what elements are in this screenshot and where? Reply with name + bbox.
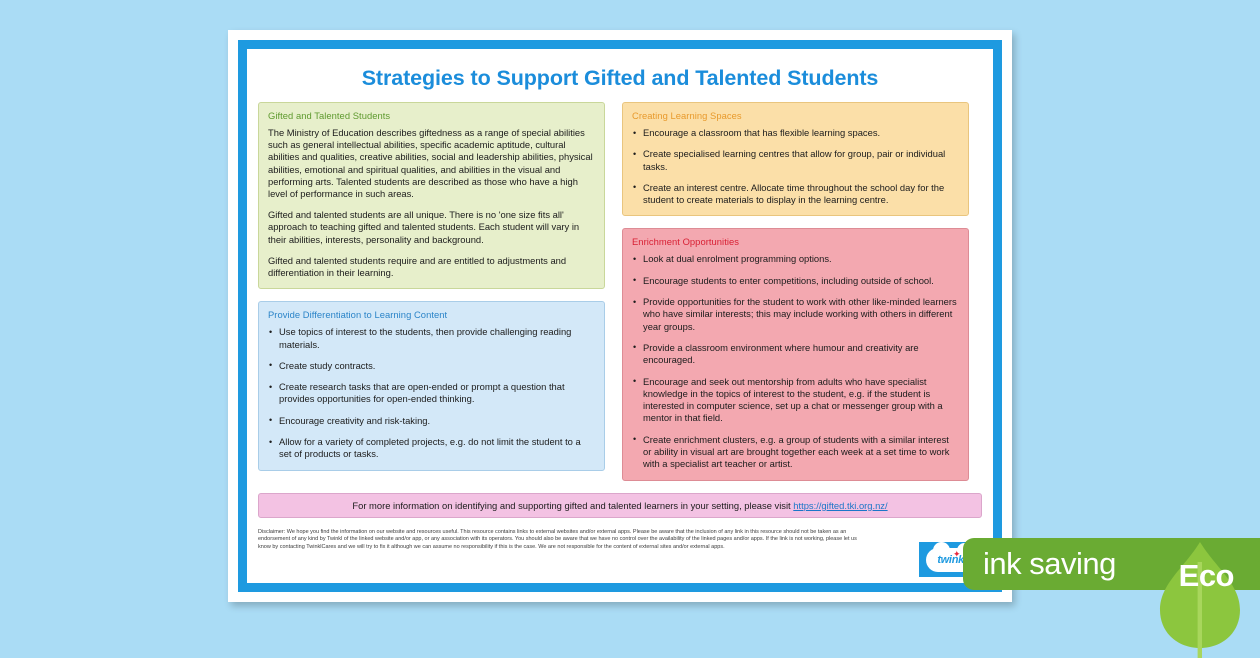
disclaimer-text: Disclaimer: We hope you find the informa… [258, 529, 858, 552]
card-title-enrichment-opportunities: Enrichment Opportunities [632, 236, 959, 247]
eco-label: Eco [1179, 558, 1234, 594]
list-item: Allow for a variety of completed project… [268, 436, 595, 461]
card-provide-differentiation: Provide Differentiation to Learning Cont… [258, 301, 605, 470]
ink-saving-label: ink saving [983, 546, 1116, 582]
poster-blue-frame: Strategies to Support Gifted and Talente… [238, 40, 1002, 592]
card-title-gifted-and-talented-students: Gifted and Talented Students [268, 110, 595, 121]
list-item: Encourage creativity and risk-taking. [268, 415, 595, 427]
page-title: Strategies to Support Gifted and Talente… [258, 66, 982, 91]
card-enrichment-opportunities: Enrichment Opportunities Look at dual en… [622, 228, 969, 480]
list-item: Use topics of interest to the students, … [268, 326, 595, 351]
list-item: Encourage and seek out mentorship from a… [632, 376, 959, 425]
list-item: Provide a classroom environment where hu… [632, 342, 959, 367]
content-columns: Gifted and Talented Students The Ministr… [258, 102, 982, 481]
list-item: Encourage a classroom that has flexible … [632, 127, 959, 139]
list-item: Look at dual enrolment programming optio… [632, 253, 959, 265]
card-creating-learning-spaces: Creating Learning Spaces Encourage a cla… [622, 102, 969, 216]
paragraph: Gifted and talented students require and… [268, 255, 595, 279]
list-item: Create research tasks that are open-ende… [268, 381, 595, 406]
card-gifted-and-talented-students: Gifted and Talented Students The Ministr… [258, 102, 605, 289]
left-column: Gifted and Talented Students The Ministr… [258, 102, 605, 471]
bullet-list-enrichment-opportunities: Look at dual enrolment programming optio… [632, 253, 959, 470]
bullet-list-creating-learning-spaces: Encourage a classroom that has flexible … [632, 127, 959, 206]
card-title-provide-differentiation: Provide Differentiation to Learning Cont… [268, 309, 595, 320]
card-title-creating-learning-spaces: Creating Learning Spaces [632, 110, 959, 121]
list-item: Encourage students to enter competitions… [632, 275, 959, 287]
star-icon: ✦ [953, 549, 961, 560]
paragraph: The Ministry of Education describes gift… [268, 127, 595, 200]
right-column: Creating Learning Spaces Encourage a cla… [622, 102, 969, 481]
list-item: Provide opportunities for the student to… [632, 296, 959, 333]
bullet-list-provide-differentiation: Use topics of interest to the students, … [268, 326, 595, 460]
footer-banner-text: For more information on identifying and … [352, 500, 793, 511]
footer-info-banner: For more information on identifying and … [258, 493, 982, 518]
footer-external-link[interactable]: https://gifted.tki.org.nz/ [793, 500, 887, 511]
poster-sheet: Strategies to Support Gifted and Talente… [228, 30, 1012, 602]
list-item: Create an interest centre. Allocate time… [632, 182, 959, 207]
list-item: Create enrichment clusters, e.g. a group… [632, 434, 959, 471]
list-item: Create study contracts. [268, 360, 595, 372]
paragraph: Gifted and talented students are all uni… [268, 209, 595, 246]
list-item: Create specialised learning centres that… [632, 148, 959, 173]
